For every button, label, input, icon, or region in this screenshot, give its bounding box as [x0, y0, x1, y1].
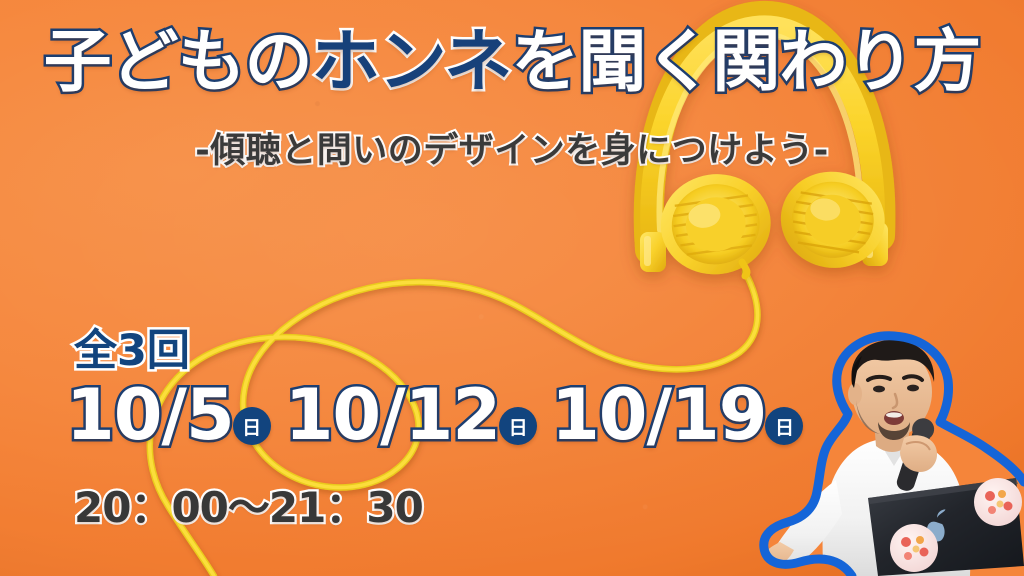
session-date-1: 10/5 [66, 380, 234, 450]
weekday-badge-2: 日 [499, 407, 537, 445]
title-part-2-highlight: ホンネ [312, 23, 512, 102]
speaker-photo-content [728, 330, 1024, 576]
event-poster: 子どものホンネを聞く関わり方 -傾聴と問いのデザインを身につけよう- 全3回 1… [0, 0, 1024, 576]
session-date-item: 10/12 日 [285, 380, 537, 450]
speaker-photo [728, 330, 1024, 576]
session-date-item: 10/5 日 [66, 380, 271, 450]
poster-title: 子どものホンネを聞く関わり方 [0, 26, 1024, 99]
session-date-2: 10/12 [285, 380, 500, 450]
session-time: 20：00〜21：30 [74, 474, 423, 535]
session-dates-list: 10/5 日 10/12 日 10/19 日 [66, 380, 803, 450]
poster-subtitle: -傾聴と問いのデザインを身につけよう- [0, 122, 1024, 173]
session-count-label: 全3回 [74, 316, 190, 378]
title-part-1: 子どもの [44, 23, 312, 102]
weekday-badge-1: 日 [233, 407, 271, 445]
title-part-3: を聞く関わり方 [511, 23, 980, 102]
